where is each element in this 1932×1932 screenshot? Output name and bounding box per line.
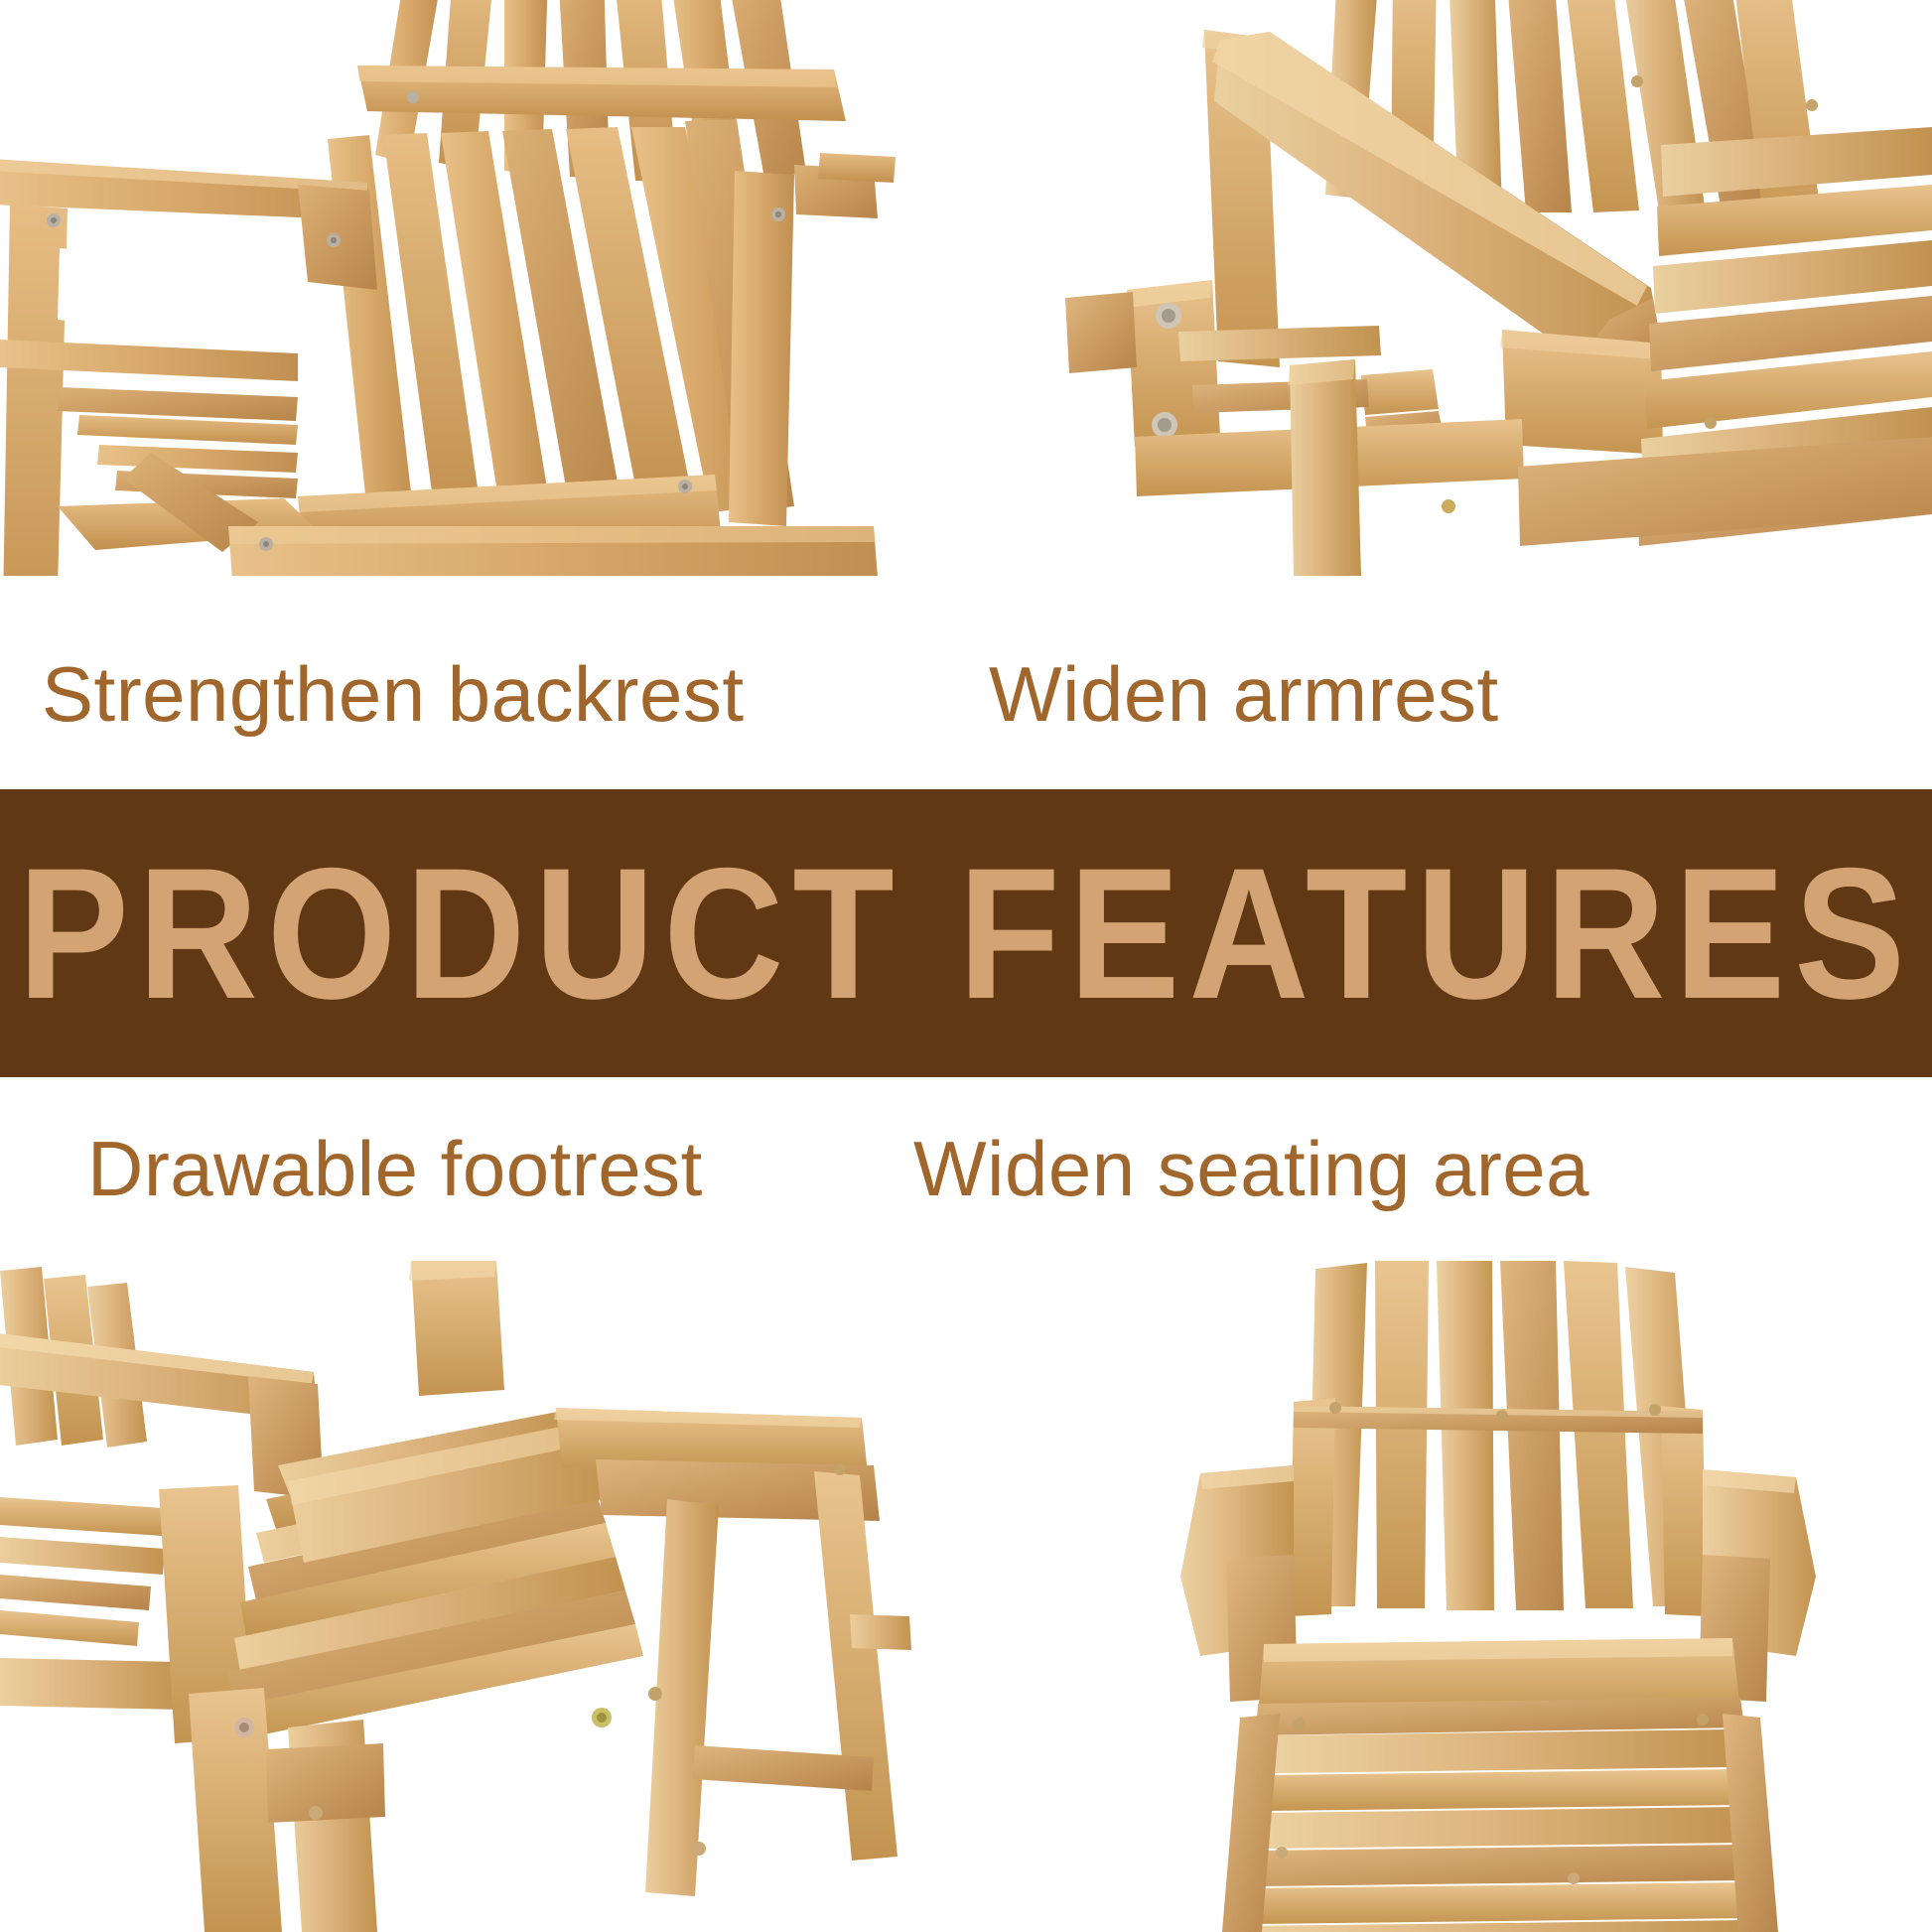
caption-strengthen-backrest: Strengthen backrest xyxy=(42,655,745,733)
product-features-banner: PRODUCT FEATURES xyxy=(0,789,1932,1077)
banner-title: PRODUCT FEATURES xyxy=(18,840,1914,1027)
feature-photo-drawable-footrest xyxy=(0,1261,966,1932)
caption-drawable-footrest: Drawable footrest xyxy=(87,1130,703,1207)
caption-widen-armrest: Widen armrest xyxy=(989,655,1499,733)
caption-widen-seating-area: Widen seating area xyxy=(913,1130,1589,1207)
feature-photo-widen-seating-area xyxy=(966,1261,1932,1932)
product-features-infographic: Strengthen backrest Widen armrest PRODUC… xyxy=(0,0,1932,1932)
feature-photo-widen-armrest xyxy=(966,0,1932,576)
feature-photo-strengthen-backrest xyxy=(0,0,966,576)
